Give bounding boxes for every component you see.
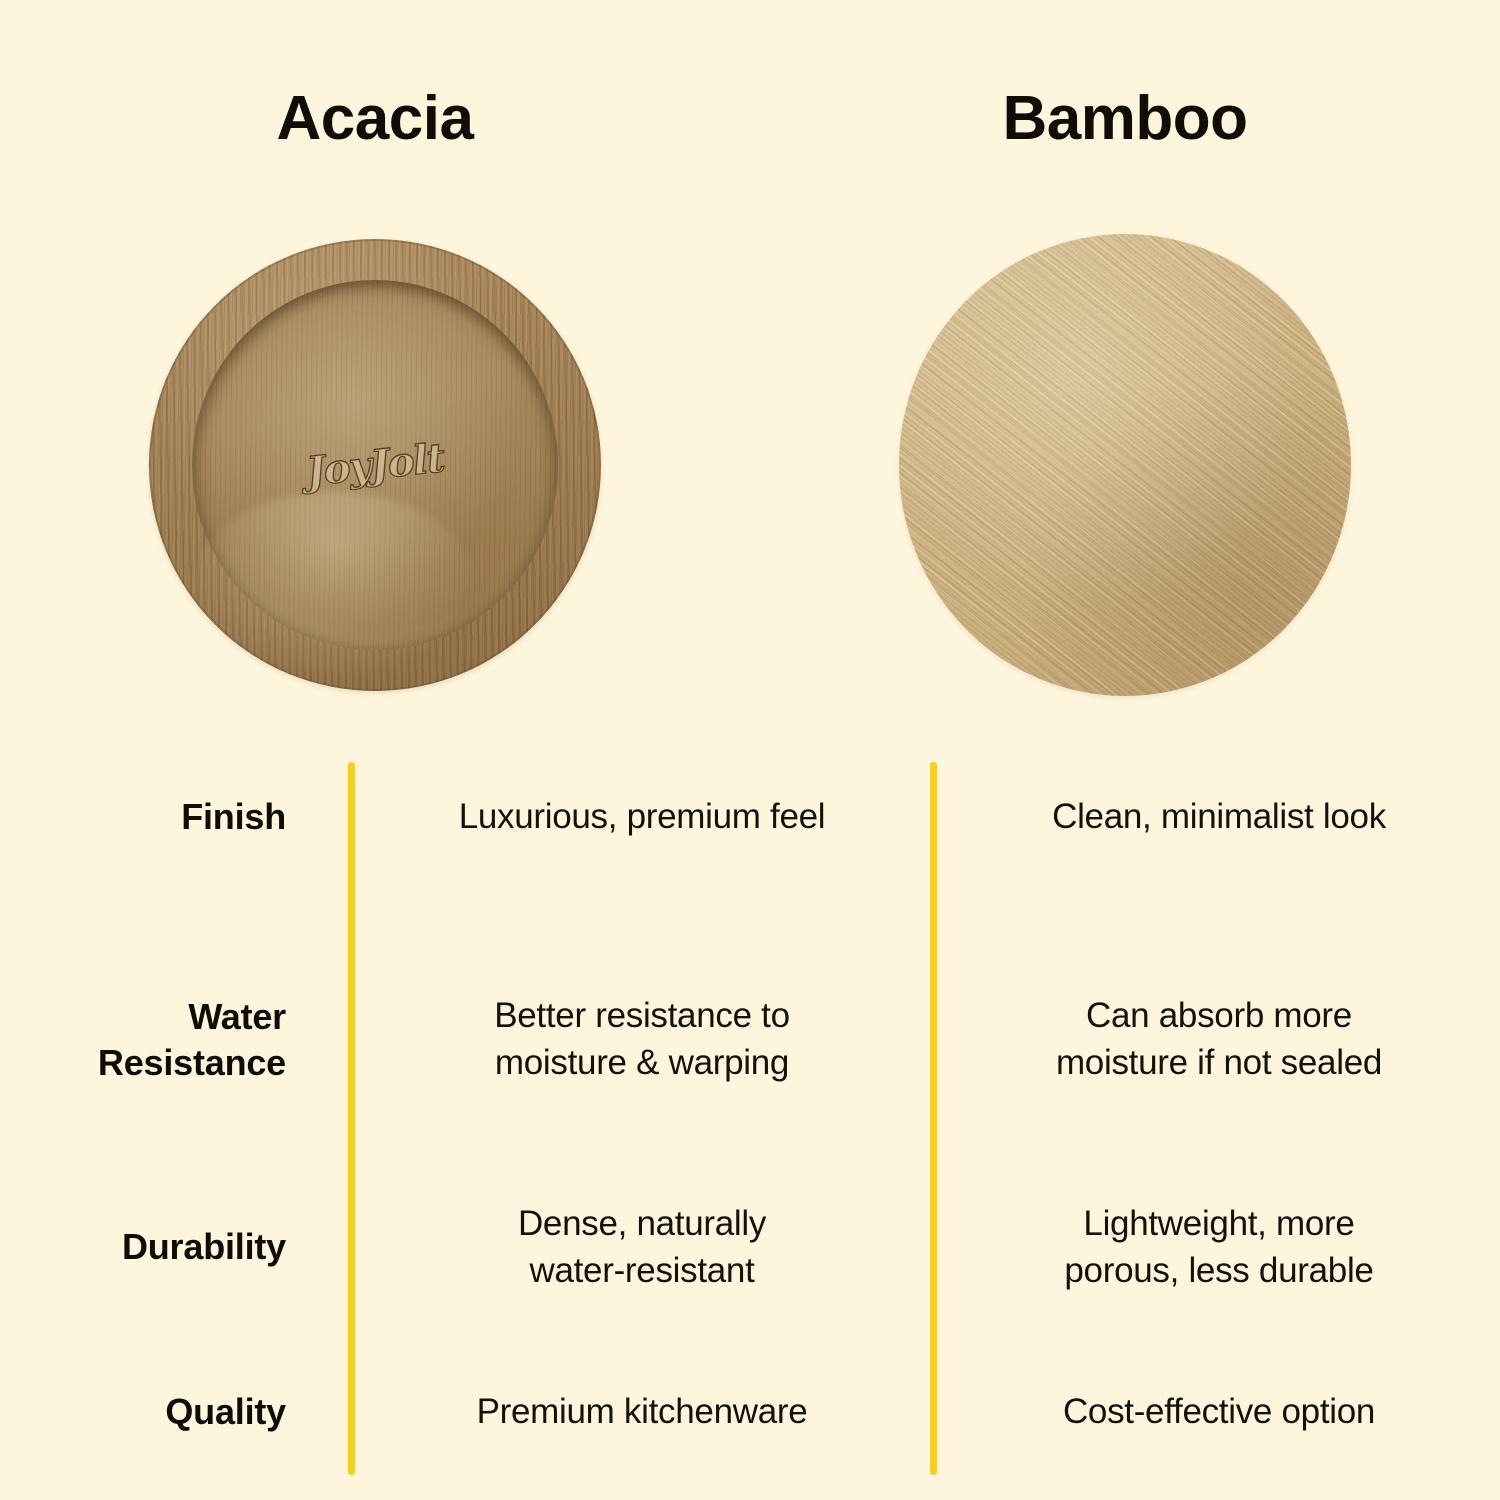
- row-label-water-resistance: Water Resistance: [0, 994, 348, 1086]
- header-cell-bamboo: Bamboo: [750, 0, 1500, 185]
- row-value-acacia-finish: Luxurious, premium feel: [348, 794, 930, 841]
- product-cell-acacia: JoyJolt: [0, 185, 750, 745]
- row-value-bamboo-quality: Cost-effective option: [930, 1389, 1500, 1436]
- row-label-quality: Quality: [0, 1389, 348, 1435]
- row-value-bamboo-finish: Clean, minimalist look: [930, 794, 1500, 841]
- product-cell-bamboo: [750, 185, 1500, 745]
- table-row: Finish Luxurious, premium feel Clean, mi…: [0, 765, 1500, 870]
- row-value-acacia-quality: Premium kitchenware: [348, 1389, 930, 1436]
- row-value-bamboo-water-resistance: Can absorb more moisture if not sealed: [930, 993, 1500, 1087]
- table-row: Durability Dense, naturally water-resist…: [0, 1160, 1500, 1335]
- acacia-plate-well: [192, 280, 558, 651]
- row-value-acacia-water-resistance: Better resistance to moisture & warping: [348, 993, 930, 1087]
- row-label-durability: Durability: [0, 1224, 348, 1270]
- header-cell-acacia: Acacia: [0, 0, 750, 185]
- table-row: Quality Premium kitchenware Cost-effecti…: [0, 1360, 1500, 1465]
- row-label-finish: Finish: [0, 794, 348, 840]
- product-image-row: JoyJolt: [0, 185, 1500, 745]
- bamboo-plate-image: [899, 234, 1351, 696]
- acacia-plate-image: JoyJolt: [149, 239, 601, 691]
- column-title-acacia: Acacia: [277, 88, 474, 150]
- row-value-bamboo-durability: Lightweight, more porous, less durable: [930, 1201, 1500, 1295]
- table-row: Water Resistance Better resistance to mo…: [0, 945, 1500, 1135]
- column-headers: Acacia Bamboo: [0, 0, 1500, 185]
- row-value-acacia-durability: Dense, naturally water-resistant: [348, 1201, 930, 1295]
- comparison-table: Finish Luxurious, premium feel Clean, mi…: [0, 745, 1500, 1500]
- bamboo-plate-shading: [899, 234, 1351, 696]
- column-title-bamboo: Bamboo: [1003, 88, 1248, 150]
